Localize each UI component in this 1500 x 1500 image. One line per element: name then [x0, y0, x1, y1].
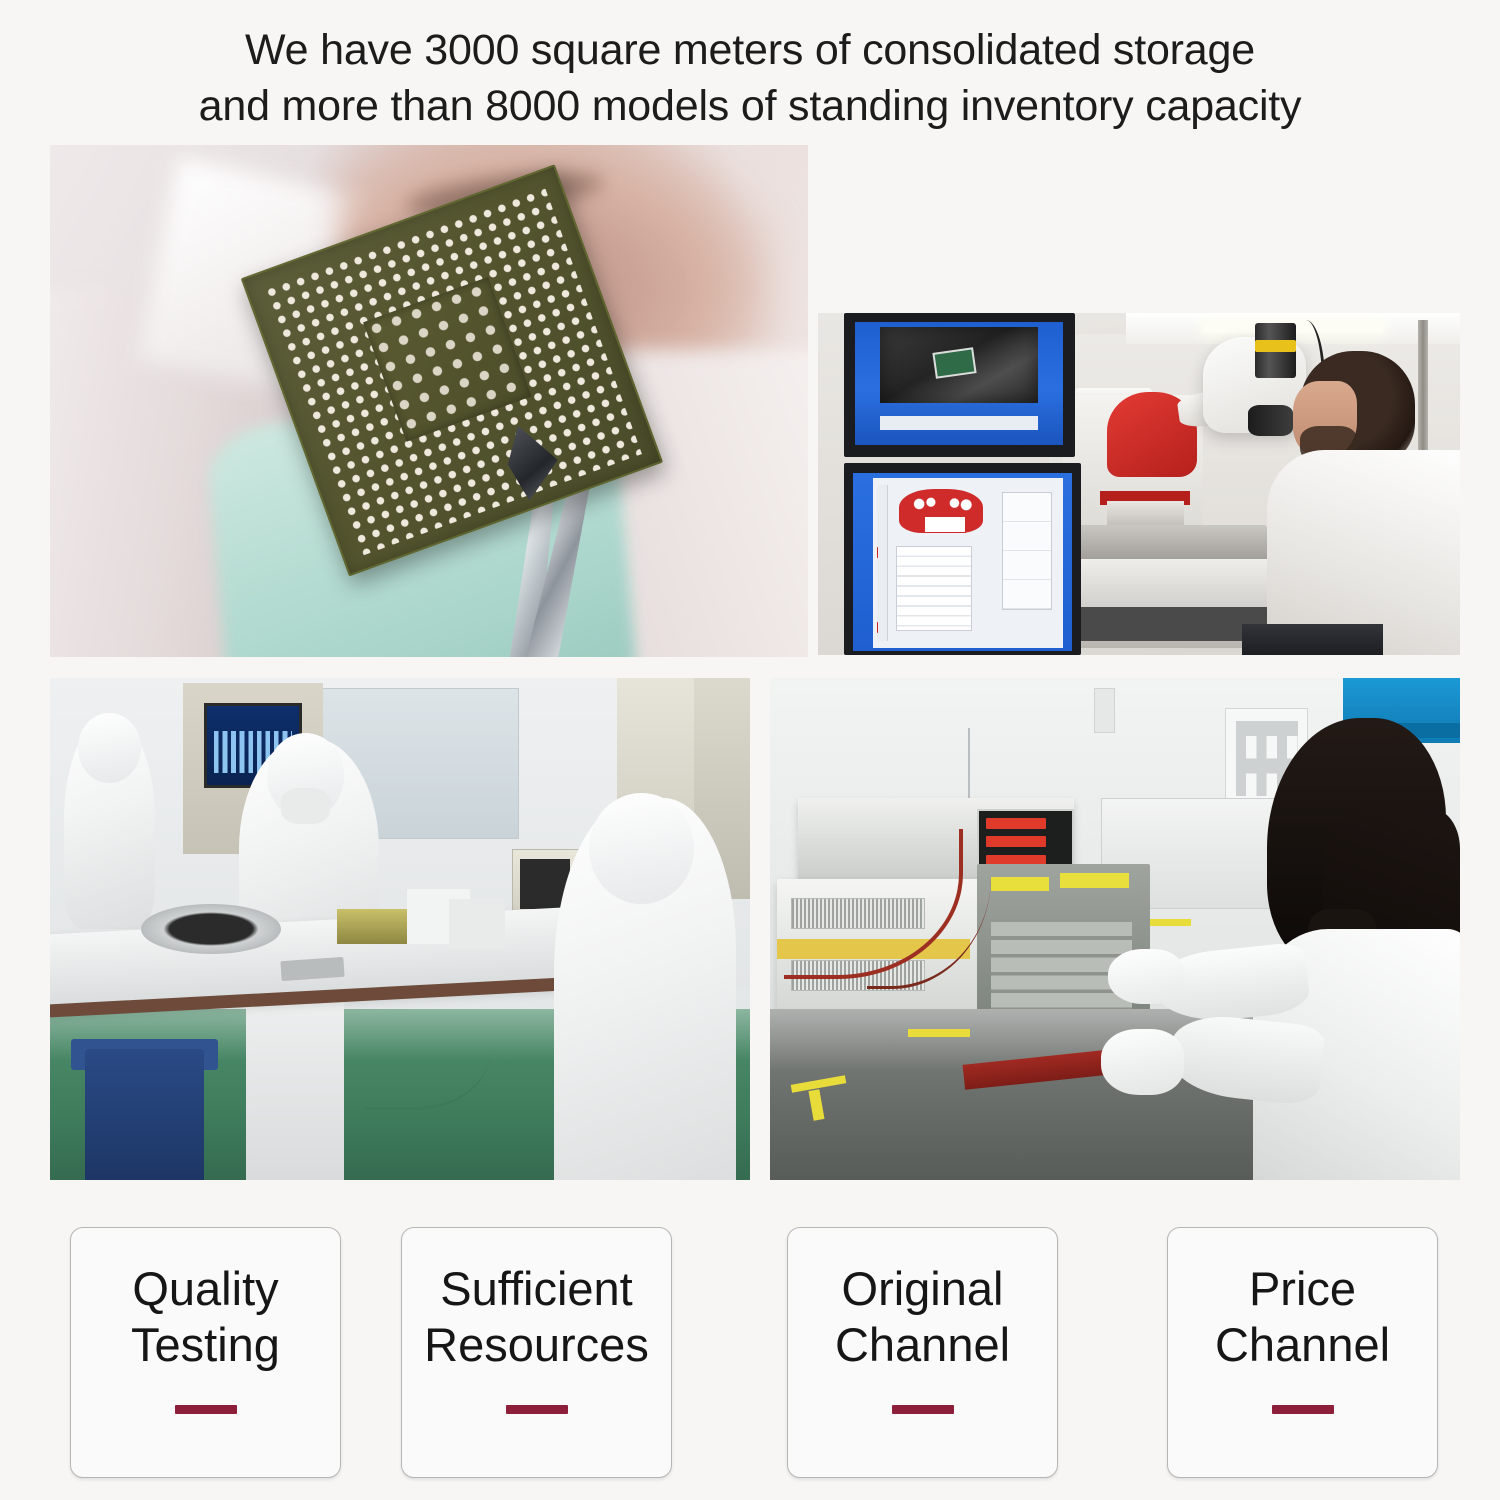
photo3-component-tray — [337, 909, 407, 944]
photo4-instrument-control-panel — [977, 864, 1150, 1025]
headline-line-1: We have 3000 square meters of consolidat… — [0, 22, 1500, 78]
accent-rule — [892, 1405, 954, 1414]
feature-card-quality-testing[interactable]: Quality Testing — [70, 1227, 341, 1478]
photo4-tape-mark-1 — [908, 1029, 970, 1037]
feature-card-sufficient-resources[interactable]: Sufficient Resources — [401, 1227, 672, 1478]
photo3-box-2 — [449, 899, 505, 949]
photo3-worker-1-hood — [78, 713, 141, 783]
accent-rule — [1272, 1405, 1334, 1414]
feature-label: Quality Testing — [131, 1261, 280, 1373]
microscope-lab-photo — [818, 313, 1460, 655]
feature-card-price-channel[interactable]: Price Channel — [1167, 1227, 1438, 1478]
cleanroom-workers-photo — [50, 678, 750, 1180]
feature-label: Sufficient Resources — [424, 1261, 649, 1373]
page-title: We have 3000 square meters of consolidat… — [0, 22, 1500, 134]
photo2-yellow-ring — [1255, 340, 1297, 352]
photo1-coat-right — [611, 350, 808, 657]
photo2-monitor-top — [844, 313, 1075, 457]
feature-label: Price Channel — [1215, 1261, 1390, 1373]
bga-chip-inspection-photo — [50, 145, 808, 657]
photo4-tape-mark-4 — [1150, 919, 1191, 926]
photo4-worker-glove-upper — [1108, 949, 1184, 1004]
photo3-worker-3-hood — [589, 793, 694, 903]
photo3-stool — [85, 1049, 204, 1180]
photo3-worker-2-mask — [281, 788, 330, 823]
photo2-keyboard — [1242, 624, 1383, 655]
photo4-wall-outline — [805, 728, 971, 808]
photo2-monitor-bottom — [844, 463, 1082, 655]
photo4-wall-vent — [1094, 688, 1115, 733]
feature-label: Original Channel — [835, 1261, 1010, 1373]
headline-line-2: and more than 8000 models of standing in… — [0, 78, 1500, 134]
accent-rule — [506, 1405, 568, 1414]
photo2-eyepiece — [1248, 405, 1293, 436]
electrical-testing-photo — [770, 678, 1460, 1180]
feature-card-original-channel[interactable]: Original Channel — [787, 1227, 1058, 1478]
photo3-component-reel — [141, 904, 281, 954]
photo4-worker-glove-lower — [1101, 1029, 1184, 1094]
accent-rule — [175, 1405, 237, 1414]
promo-page: We have 3000 square meters of consolidat… — [0, 0, 1500, 1500]
